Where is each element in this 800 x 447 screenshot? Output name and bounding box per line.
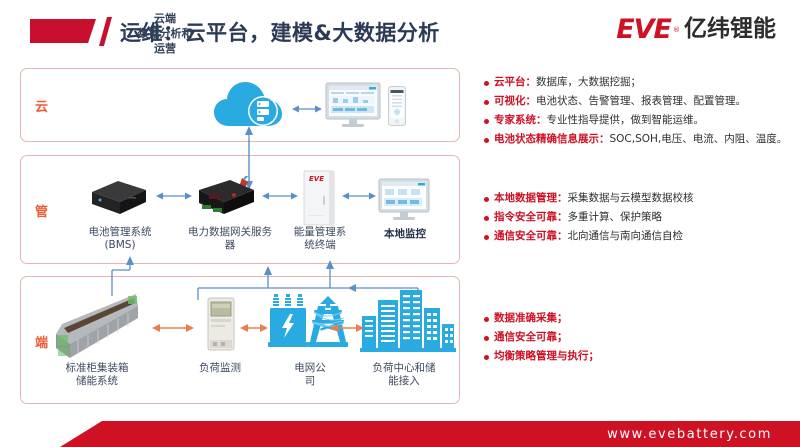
ems-terminal-label: 能量管理系 统终端 — [282, 226, 358, 252]
svg-text:EVE: EVE — [309, 175, 324, 183]
bms-device-label: 电池管理系统 (BMS) — [72, 226, 168, 252]
page-footer: www.evebattery.com — [0, 421, 800, 447]
battery-container-device — [48, 288, 144, 366]
bullet-dot-icon — [484, 317, 489, 322]
grid-to-load-arrow — [330, 322, 364, 334]
header-accent-block — [30, 19, 96, 43]
bullet-dot-icon — [484, 100, 489, 105]
bullet-text: 均衡策略管理与执行； — [494, 350, 599, 363]
bullet-text: 可视化：电池状态、告警管理、报表管理、配置管理。 — [494, 95, 746, 108]
bullet-text: 通信安全可靠； — [494, 331, 568, 344]
bullet-item: 指令安全可靠：多重计算、保护策略 — [484, 211, 796, 224]
cloud-server-icon — [212, 80, 288, 136]
bullet-text: 电池状态精确信息展示：SOC,SOH,电压、电流、内阻、温度。 — [494, 133, 787, 146]
gateway-to-ems-arrow — [262, 190, 298, 202]
edge-bullet-list: 数据准确采集；通信安全可靠；均衡策略管理与执行； — [484, 312, 796, 369]
container-to-meter-arrow — [152, 322, 194, 334]
battery-container-label: 标准柜集装箱 储能系统 — [42, 362, 152, 388]
cloud-row-title: 云端 数据分析和 运营 — [122, 12, 208, 57]
cloud-bullet-list: 云平台：数据库，大数据挖掘；可视化：电池状态、告警管理、报表管理、配置管理。专家… — [484, 76, 796, 153]
bullet-dot-icon — [484, 119, 489, 124]
load-meter-label: 负荷监测 — [178, 362, 262, 375]
bullet-item: 通信安全可靠：北向通信与南向通信自检 — [484, 230, 796, 243]
bullet-dot-icon — [484, 355, 489, 360]
bullet-item: 可视化：电池状态、告警管理、报表管理、配置管理。 — [484, 95, 796, 108]
bullet-item: 本地数据管理：采集数据与云模型数据校核 — [484, 192, 796, 205]
bullet-text: 专家系统：专业性指导提供，做到智能运维。 — [494, 114, 704, 127]
load-meter-device — [205, 296, 237, 356]
management-bullet-list: 本地数据管理：采集数据与云模型数据校核指令安全可靠：多重计算、保护策略通信安全可… — [484, 192, 796, 249]
bullet-item: 专家系统：专业性指导提供，做到智能运维。 — [484, 114, 796, 127]
bullet-dot-icon — [484, 138, 489, 143]
meter-to-grid-arrow — [240, 322, 268, 334]
bullet-item: 通信安全可靠； — [484, 331, 796, 344]
load-center-label: 负荷中心和储 能接入 — [352, 362, 456, 388]
local-monitor-label: 本地监控 — [372, 228, 438, 241]
bms-device — [88, 178, 150, 222]
brand-trademark-icon: ® — [673, 26, 680, 34]
local-monitor-device — [378, 178, 430, 226]
ems-to-monitor-arrow — [342, 190, 376, 202]
gateway-server-label: 电力数据网关服务 器 — [184, 226, 276, 252]
cloud-to-monitor-arrow — [292, 100, 322, 119]
smartphone-icon — [388, 86, 406, 130]
grid-company-label: 电网公 司 — [270, 362, 350, 388]
bullet-dot-icon — [484, 336, 489, 341]
bullet-dot-icon — [484, 197, 489, 202]
management-layer-label: 管 — [35, 201, 48, 220]
brand-chinese-text: 亿纬锂能 — [684, 18, 776, 41]
brand-eve-text: EVE — [616, 16, 671, 43]
bullet-item: 均衡策略管理与执行； — [484, 350, 796, 363]
bullet-text: 云平台：数据库，大数据挖掘； — [494, 76, 641, 89]
bullet-item: 云平台：数据库，大数据挖掘； — [484, 76, 796, 89]
bullet-dot-icon — [484, 235, 489, 240]
monitor-dashboard-icon — [325, 82, 381, 134]
bullet-text: 通信安全可靠：北向通信与南向通信自检 — [494, 230, 683, 243]
bullet-text: 数据准确采集； — [494, 312, 568, 325]
header-slash-icon — [99, 17, 112, 46]
bullet-text: 本地数据管理：采集数据与云模型数据校核 — [494, 192, 694, 205]
bullet-item: 数据准确采集； — [484, 312, 796, 325]
brand-logo: EVE ® 亿纬锂能 — [616, 16, 776, 43]
bms-to-gateway-arrow — [156, 190, 192, 202]
ems-terminal-device: EVE — [303, 170, 337, 230]
cloud-layer-label: 云 — [35, 96, 48, 115]
load-center-buildings-icon — [360, 288, 456, 358]
bullet-dot-icon — [484, 81, 489, 86]
gateway-server-device — [196, 176, 258, 224]
footer-url: www.evebattery.com — [607, 427, 772, 442]
bullet-text: 指令安全可靠：多重计算、保护策略 — [494, 211, 662, 224]
page-header: 运维：云平台，建模&大数据分析 EVE ® 亿纬锂能 — [0, 0, 800, 62]
bullet-item: 电池状态精确信息展示：SOC,SOH,电压、电流、内阻、温度。 — [484, 133, 796, 146]
edge-layer-label: 端 — [35, 332, 48, 351]
bullet-dot-icon — [484, 216, 489, 221]
